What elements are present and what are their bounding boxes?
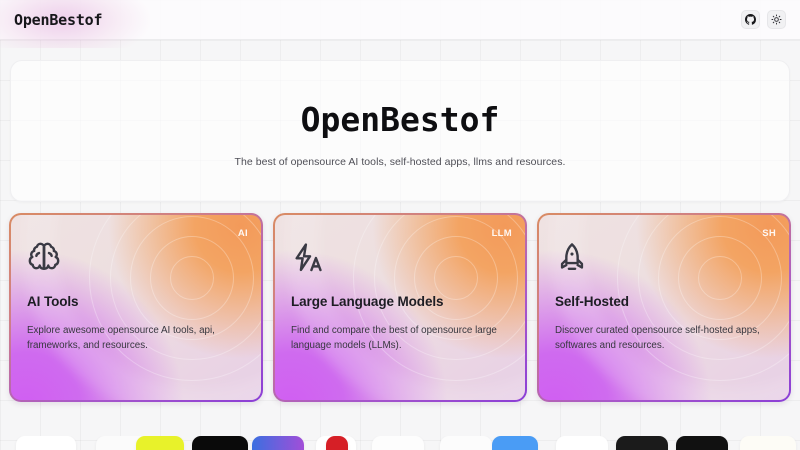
logo-tile[interactable] [192, 436, 248, 450]
card-description: Explore awesome opensource AI tools, api… [27, 323, 239, 353]
category-card-self-hosted[interactable]: SH Self-Hosted Discover curated opensour… [537, 213, 791, 402]
hero-subtitle: The best of opensource AI tools, self-ho… [235, 156, 566, 168]
card-surface: LLM Large Language Models Find and compa… [275, 215, 525, 400]
category-card-grid: AI AI Tools Explore awesome opensource A… [9, 213, 791, 402]
github-icon [745, 14, 756, 25]
header-actions [741, 10, 786, 29]
logo-tile[interactable] [556, 436, 608, 450]
logo-tile[interactable] [492, 436, 538, 450]
page-title: OpenBestof [301, 100, 500, 139]
card-badge: AI [238, 228, 248, 239]
card-surface: SH Self-Hosted Discover curated opensour… [539, 215, 789, 400]
logo-tile[interactable] [676, 436, 728, 450]
card-description: Find and compare the best of opensource … [291, 323, 503, 353]
sun-icon [771, 14, 782, 25]
card-description: Discover curated opensource self-hosted … [555, 323, 767, 353]
card-title: Large Language Models [291, 294, 443, 309]
page-root: OpenBestof OpenBestof The best of openso… [0, 0, 800, 450]
lightning-a-icon [291, 241, 325, 275]
logo-tile[interactable] [252, 436, 304, 450]
logo-tile[interactable] [440, 436, 492, 450]
card-surface: AI AI Tools Explore awesome opensource A… [11, 215, 261, 400]
logo-tile[interactable] [16, 436, 76, 450]
logo-tile[interactable] [326, 436, 348, 450]
logo-strip [0, 436, 800, 450]
logo-tile[interactable] [616, 436, 668, 450]
logo-tile[interactable] [136, 436, 184, 450]
theme-toggle-button[interactable] [767, 10, 786, 29]
card-title: AI Tools [27, 294, 78, 309]
category-card-ai-tools[interactable]: AI AI Tools Explore awesome opensource A… [9, 213, 263, 402]
github-button[interactable] [741, 10, 760, 29]
rocket-icon [555, 241, 589, 275]
category-card-large-language-models[interactable]: LLM Large Language Models Find and compa… [273, 213, 527, 402]
hero-section: OpenBestof The best of opensource AI too… [10, 60, 790, 202]
card-badge: LLM [492, 228, 512, 239]
card-ripple-decoration [77, 215, 261, 393]
top-header: OpenBestof [0, 0, 800, 40]
app-logo[interactable]: OpenBestof [14, 11, 102, 29]
card-badge: SH [762, 228, 776, 239]
card-title: Self-Hosted [555, 294, 629, 309]
logo-tile[interactable] [740, 436, 796, 450]
card-ripple-decoration [605, 215, 789, 393]
logo-tile[interactable] [372, 436, 424, 450]
brain-icon [27, 241, 61, 275]
